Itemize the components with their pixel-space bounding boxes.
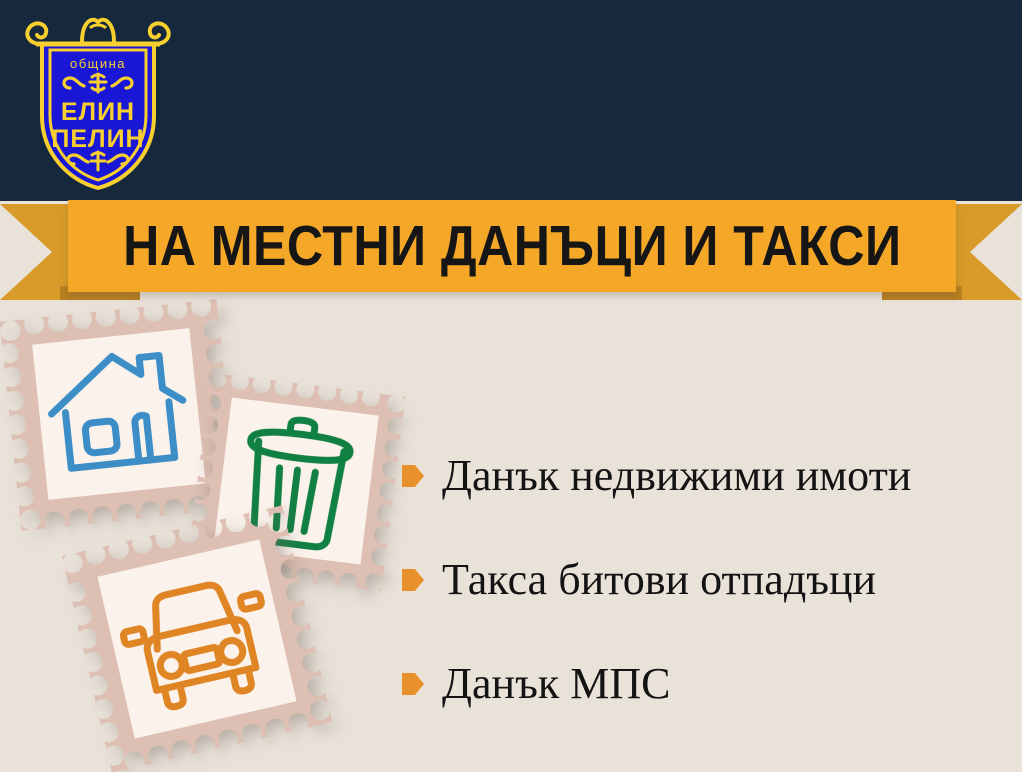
- ribbon-main-panel: НА МЕСТНИ ДАНЪЦИ И ТАКСИ: [68, 200, 956, 292]
- municipality-logo: община ЕЛИН ПЕЛИН: [22, 8, 174, 194]
- ribbon-label: НА МЕСТНИ ДАНЪЦИ И ТАКСИ: [123, 213, 901, 279]
- ribbon-banner: НА МЕСТНИ ДАНЪЦИ И ТАКСИ: [0, 200, 1022, 310]
- arrow-bullet-icon: [402, 671, 424, 697]
- stamp-card-car: [62, 505, 332, 772]
- arrow-bullet-icon: [402, 567, 424, 593]
- svg-text:ПЕЛИН: ПЕЛИН: [51, 125, 144, 153]
- list-item: Данък МПС: [402, 632, 1012, 736]
- list-item: Данък недвижими имоти: [402, 424, 1012, 528]
- svg-text:ЕЛИН: ЕЛИН: [61, 98, 135, 126]
- poster-canvas: ПРОВЕРКА И ПЛАЩАНЕ НА ЗАДЪЛЖЕНИЯ община …: [0, 0, 1022, 772]
- arrow-bullet-icon: [402, 463, 424, 489]
- svg-text:община: община: [70, 56, 126, 71]
- tax-type-list: Данък недвижими имоти Такса битови отпад…: [402, 424, 1012, 736]
- list-item-label: Данък недвижими имоти: [442, 453, 911, 499]
- list-item: Такса битови отпадъци: [402, 528, 1012, 632]
- list-item-label: Данък МПС: [442, 661, 670, 707]
- list-item-label: Такса битови отпадъци: [442, 557, 876, 603]
